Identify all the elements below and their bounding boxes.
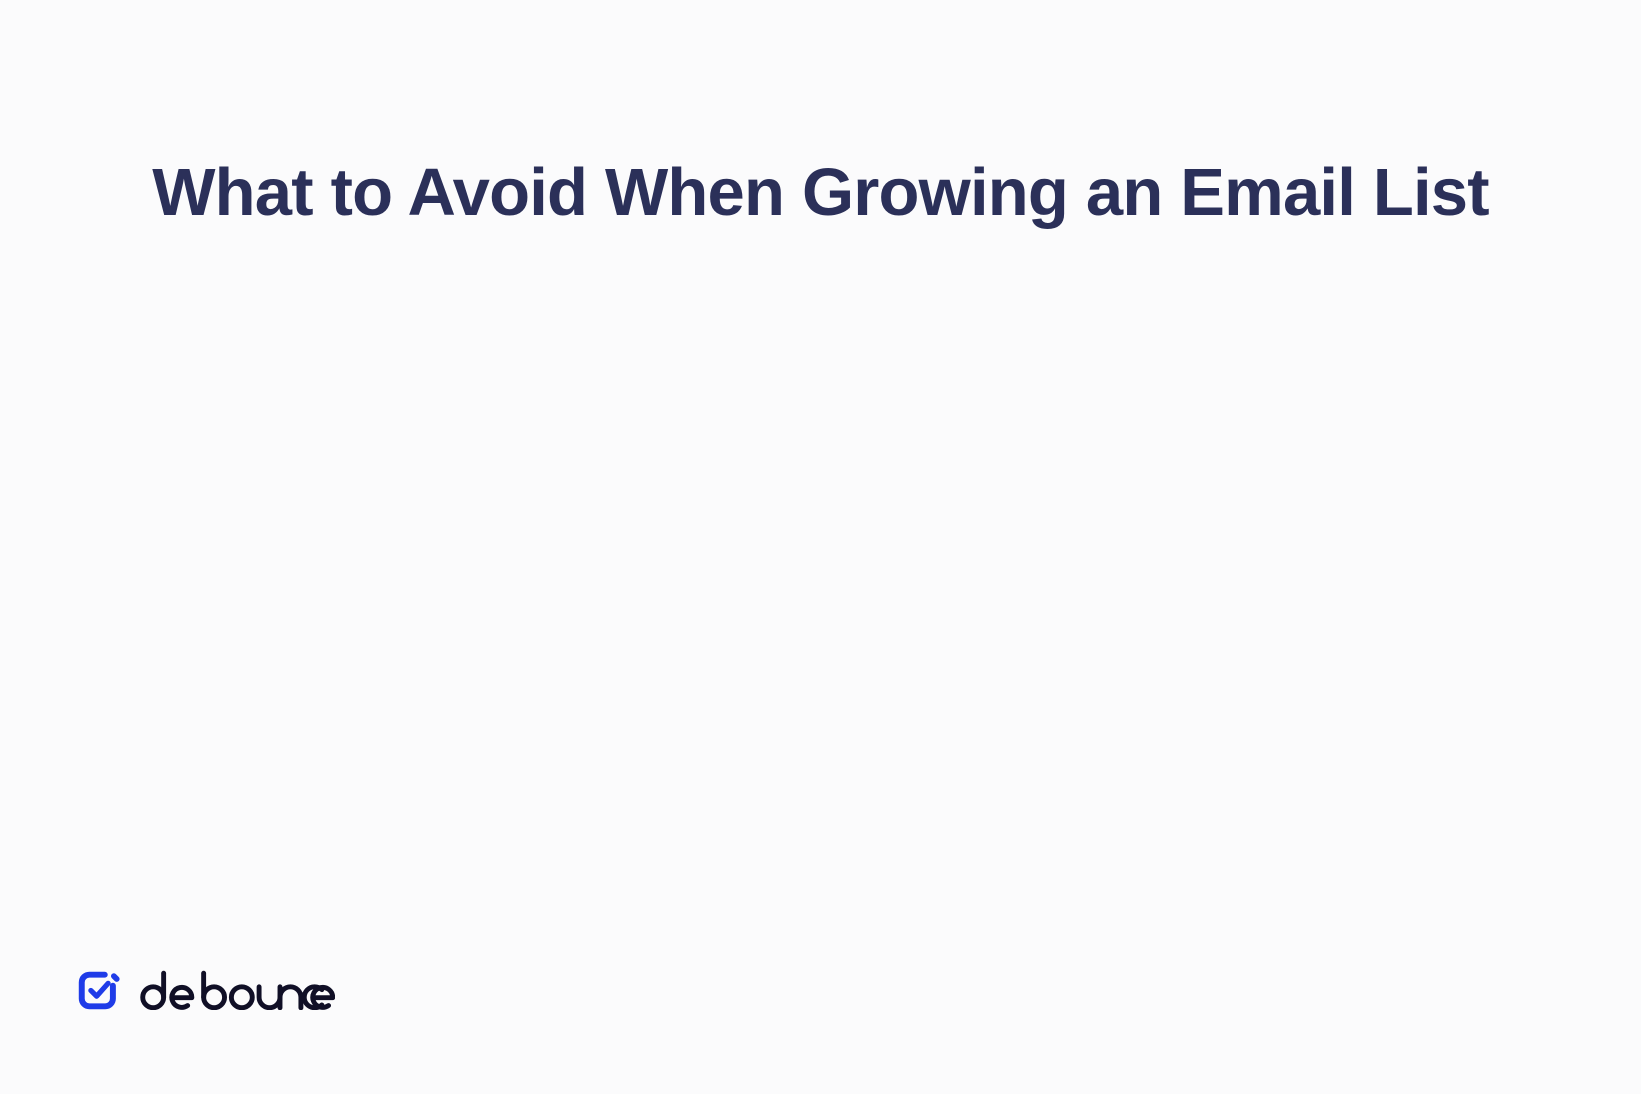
check-square-icon [76,967,122,1013]
debounce-logo [76,964,335,1016]
slide-content-area [178,240,1438,900]
debounce-wordmark [140,970,335,1010]
presentation-slide: What to Avoid When Growing an Email List [0,0,1641,1094]
slide-title: What to Avoid When Growing an Email List [0,155,1641,230]
